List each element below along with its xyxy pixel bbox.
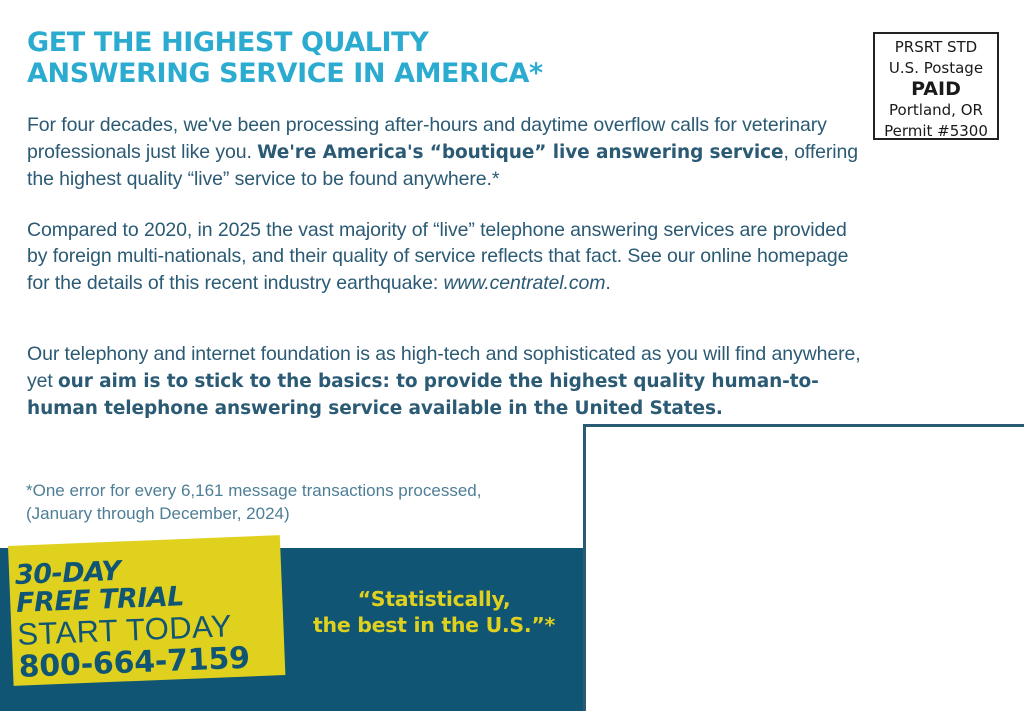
paragraph-1-bold: We're America's “boutique” live answerin… — [257, 142, 783, 163]
headline-line-1: GET THE HIGHEST QUALITY — [27, 27, 667, 58]
homepage-url[interactable]: www.centratel.com — [443, 272, 605, 294]
page-title: GET THE HIGHEST QUALITY ANSWERING SERVIC… — [27, 27, 667, 89]
paragraph-3: Our telephony and internet foundation is… — [27, 341, 863, 423]
postage-permit-box: PRSRT STD U.S. Postage PAID Portland, OR… — [873, 32, 999, 140]
footnote: *One error for every 6,161 message trans… — [26, 479, 586, 525]
postcard: GET THE HIGHEST QUALITY ANSWERING SERVIC… — [0, 0, 1024, 711]
free-trial-badge[interactable]: 30-DAY FREE TRIAL START TODAY 800-664-71… — [14, 539, 289, 684]
permit-class: PRSRT STD — [875, 37, 997, 58]
headline-line-2: ANSWERING SERVICE IN AMERICA* — [27, 58, 667, 89]
footnote-line-1: *One error for every 6,161 message trans… — [26, 479, 586, 502]
tagline-line-1: “Statistically, — [300, 586, 568, 612]
permit-number: Permit #5300 — [875, 121, 997, 142]
address-panel — [583, 424, 1024, 711]
permit-city: Portland, OR — [875, 100, 997, 121]
paragraph-1: For four decades, we've been processing … — [27, 112, 863, 193]
permit-paid: PAID — [875, 78, 997, 100]
footnote-line-2: (January through December, 2024) — [26, 502, 586, 525]
tagline-line-2: the best in the U.S.”* — [300, 612, 568, 638]
permit-postage-label: U.S. Postage — [875, 58, 997, 79]
paragraph-2: Compared to 2020, in 2025 the vast major… — [27, 217, 863, 297]
paragraph-2-text-c: . — [605, 272, 610, 294]
paragraph-3-bold: our aim is to stick to the basics: to pr… — [27, 371, 819, 420]
tagline: “Statistically, the best in the U.S.”* — [300, 586, 568, 638]
paragraph-2-text-a: Compared to 2020, in 2025 the vast major… — [27, 219, 848, 294]
body-copy: For four decades, we've been processing … — [27, 112, 863, 296]
